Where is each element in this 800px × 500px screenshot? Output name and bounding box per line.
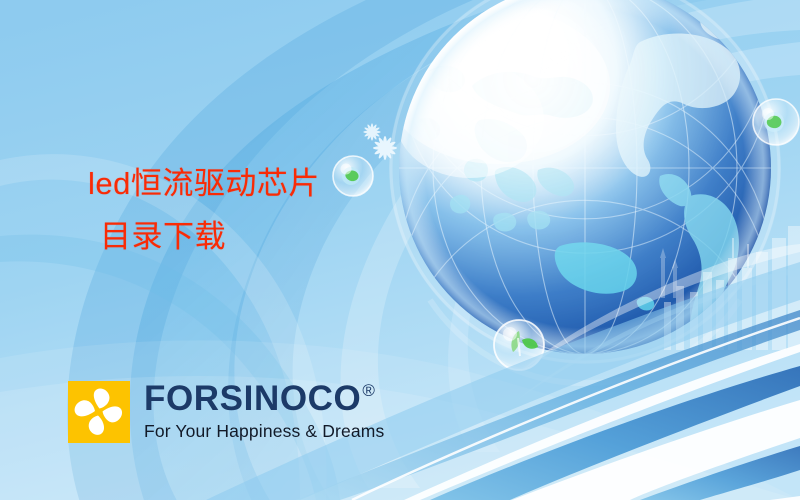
bubble-right-edge [753,99,799,145]
logo-text-block: FORSINOCO ® For Your Happiness & Dreams [144,379,384,441]
bubble-with-globe-small [333,156,373,196]
banner-canvas: led恒流驱动芯片 目录下载 FORSINOCO ® For Your Happ… [0,0,800,500]
headline-line-1: led恒流驱动芯片 [88,166,320,202]
logo-lockup: FORSINOCO ® For Your Happiness & Dreams [68,379,384,443]
registered-trademark-icon: ® [362,382,375,399]
brand-name-text: FORSINOCO [144,381,361,416]
brand-tagline: For Your Happiness & Dreams [144,423,384,441]
pinwheel-petals-icon [68,381,130,443]
forsinoco-pinwheel-mark-icon [68,381,130,443]
headline-line-2: 目录下载 [100,219,320,255]
brand-name: FORSINOCO ® [144,381,384,416]
headline-block: led恒流驱动芯片 目录下载 [88,166,320,255]
